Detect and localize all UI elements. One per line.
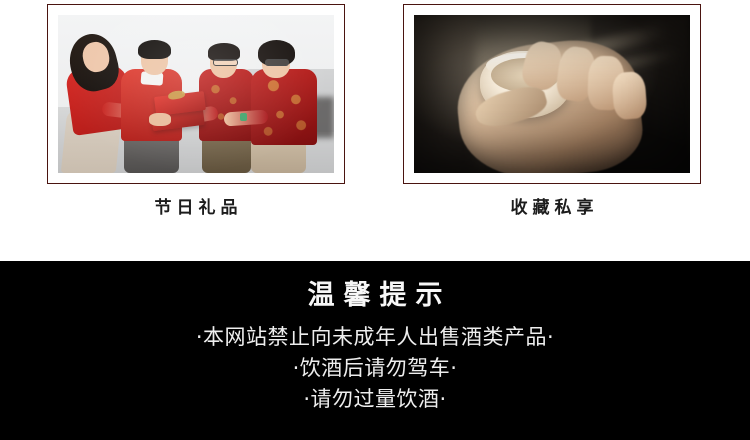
gallery-card-collection-enjoy[interactable] [403, 4, 701, 184]
photo-highlight-overlay [58, 15, 334, 173]
photo-vignette-overlay [414, 15, 690, 173]
notice-line: ·本网站禁止向未成年人出售酒类产品· [0, 322, 750, 353]
notice-title: 温馨提示 [0, 261, 750, 311]
notice-line-list: ·本网站禁止向未成年人出售酒类产品· ·饮酒后请勿驾车· ·请勿过量饮酒· [0, 311, 750, 415]
family-gift-photo [58, 15, 334, 173]
gallery-caption-collection-enjoy: 收藏私享 [403, 193, 701, 218]
gallery-caption-festival-gift: 节日礼品 [47, 193, 345, 218]
hand-holding-cup-photo [414, 15, 690, 173]
notice-line: ·饮酒后请勿驾车· [0, 353, 750, 384]
warning-notice-panel: 温馨提示 ·本网站禁止向未成年人出售酒类产品· ·饮酒后请勿驾车· ·请勿过量饮… [0, 261, 750, 440]
notice-line: ·请勿过量饮酒· [0, 384, 750, 415]
photo-gallery-section: 节日礼品 收藏私享 [0, 0, 750, 261]
gallery-card-festival-gift[interactable] [47, 4, 345, 184]
